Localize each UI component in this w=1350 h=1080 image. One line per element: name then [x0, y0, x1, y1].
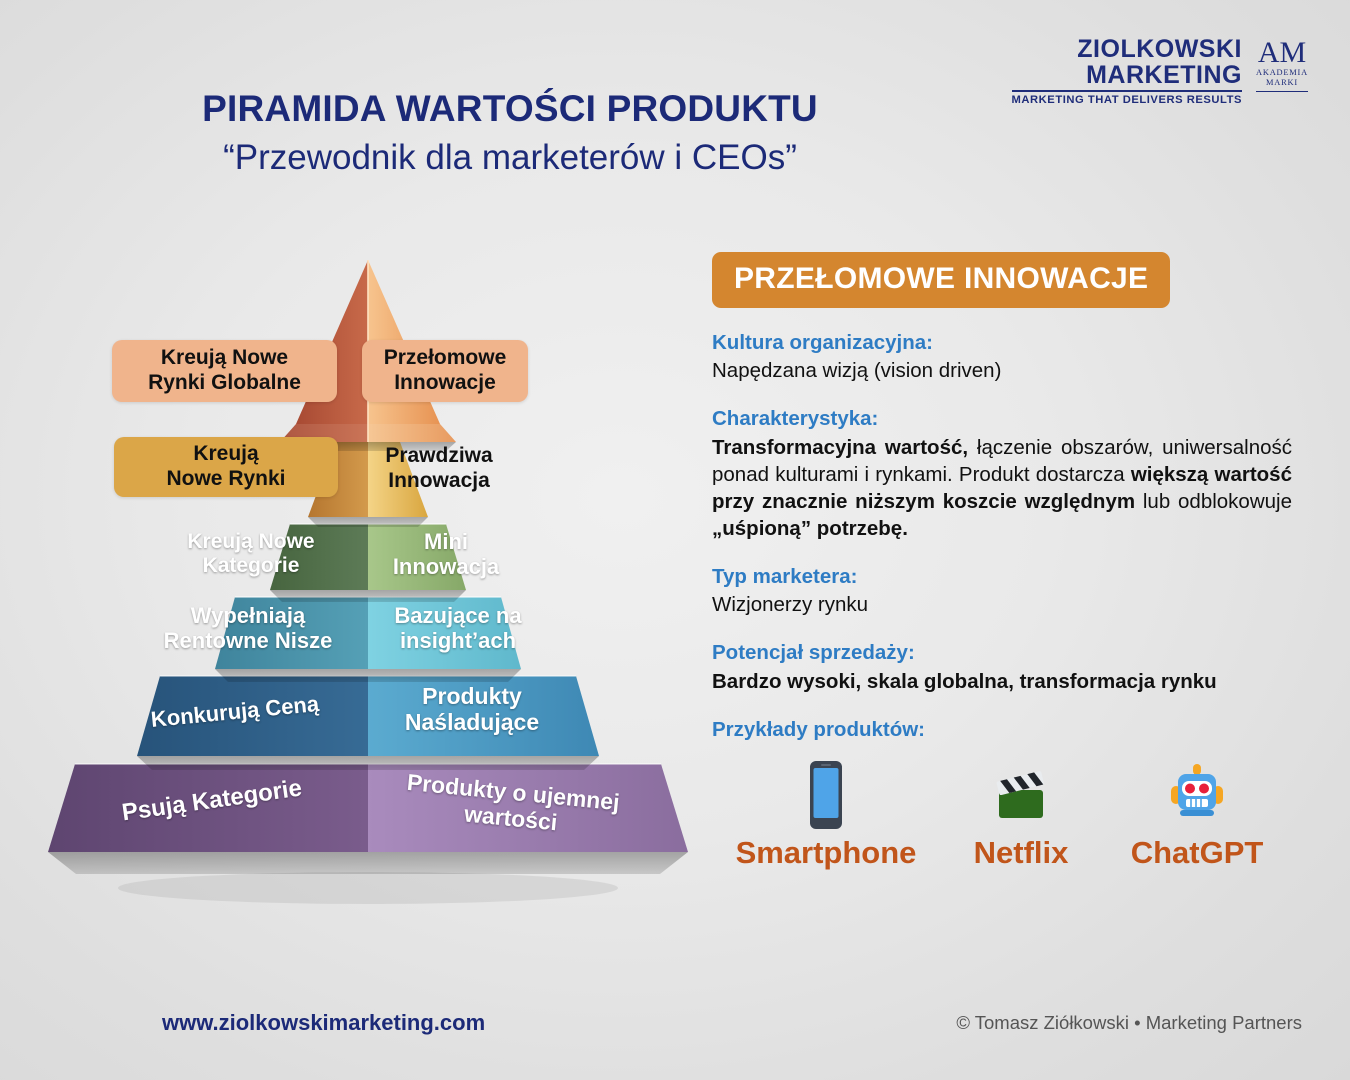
pyramid-level-5 [137, 676, 599, 770]
section-potencjal-body: Bardzo wysoki, skala globalna, transform… [712, 668, 1292, 695]
example-netflix-label: Netflix [940, 835, 1102, 871]
website-link[interactable]: www.ziolkowskimarketing.com [162, 1010, 485, 1036]
level-2-left-label: KreująNowe Rynki [114, 437, 338, 497]
level-1-left-text: Kreują NoweRynki Globalne [148, 346, 301, 396]
level-2-left-text: KreująNowe Rynki [166, 442, 285, 492]
logo-line-2: MARKETING [1012, 62, 1242, 88]
example-products-list: Smartphone Netflix [712, 759, 1292, 871]
section-przyklady-heading: Przykłady produktów: [712, 717, 1292, 743]
charakterystyka-run-0: Transformacyjna wartość, [712, 436, 968, 459]
example-smartphone-label: Smartphone [712, 835, 940, 871]
section-potencjal: Potencjał sprzedaży: Bardzo wysoki, skal… [712, 640, 1292, 695]
logo-line-1: ZIOLKOWSKI [1012, 36, 1242, 62]
logo-wordmark: ZIOLKOWSKI MARKETING MARKETING THAT DELI… [1012, 36, 1242, 106]
status-badge: PRZEŁOMOWE INNOWACJE [712, 252, 1170, 308]
copyright-notice: © Tomasz Ziółkowski • Marketing Partners [956, 1012, 1302, 1034]
akademia-marki-mark: AM AKADEMIA MARKI [1256, 36, 1308, 92]
page-subtitle: “Przewodnik dla marketerów i CEOs” [0, 138, 1020, 178]
logo-tagline: MARKETING THAT DELIVERS RESULTS [1012, 90, 1242, 106]
level-2-right-label: PrawdziwaInnowacja [360, 444, 518, 494]
smartphone-icon [712, 759, 940, 831]
section-typ: Typ marketera: Wizjonerzy rynku [712, 564, 1292, 618]
level-2-right-text: PrawdziwaInnowacja [385, 444, 492, 492]
value-pyramid: Kreują NoweRynki Globalne PrzełomoweInno… [48, 252, 688, 912]
section-kultura-heading: Kultura organizacyjna: [712, 330, 1292, 356]
am-monogram: AM [1256, 39, 1308, 68]
section-charakterystyka-body: Transformacyjna wartość, łączenie obszar… [712, 434, 1292, 542]
section-charakterystyka: Charakterystyka: Transformacyjna wartość… [712, 406, 1292, 542]
am-divider [1256, 91, 1308, 92]
pyramid-level-6-base [48, 764, 688, 874]
example-netflix[interactable]: Netflix [940, 759, 1102, 871]
level-1-left-label: Kreują NoweRynki Globalne [112, 340, 337, 402]
charakterystyka-run-5: „uśpioną” potrzebę. [712, 517, 908, 540]
section-kultura-body: Napędzana wizją (vision driven) [712, 358, 1292, 385]
section-charakterystyka-heading: Charakterystyka: [712, 406, 1292, 432]
example-chatgpt-label: ChatGPT [1102, 835, 1292, 871]
section-przyklady: Przykłady produktów: Smartphone [712, 717, 1292, 871]
pyramid-shadow [118, 872, 618, 904]
robot-icon [1102, 759, 1292, 831]
example-chatgpt[interactable]: ChatGPT [1102, 759, 1292, 871]
am-sub-2: MARKI [1256, 78, 1308, 89]
pyramid-level-3 [270, 524, 466, 602]
clapper-board-icon [940, 759, 1102, 831]
section-typ-heading: Typ marketera: [712, 564, 1292, 590]
detail-panel: PRZEŁOMOWE INNOWACJE Kultura organizacyj… [712, 252, 1292, 871]
section-typ-body: Wizjonerzy rynku [712, 592, 1292, 619]
am-sub-1: AKADEMIA [1256, 68, 1308, 79]
section-potencjal-heading: Potencjał sprzedaży: [712, 640, 1292, 666]
section-kultura: Kultura organizacyjna: Napędzana wizją (… [712, 330, 1292, 384]
brand-logo: ZIOLKOWSKI MARKETING MARKETING THAT DELI… [1012, 36, 1308, 106]
level-1-right-text: PrzełomoweInnowacje [384, 346, 507, 396]
pyramid-level-4 [215, 597, 521, 682]
page-title: PIRAMIDA WARTOŚCI PRODUKTU [0, 88, 1020, 130]
example-smartphone[interactable]: Smartphone [712, 759, 940, 871]
charakterystyka-run-4: odblokowuje [1170, 490, 1292, 513]
charakterystyka-run-3: lub [1135, 490, 1170, 513]
level-1-right-label: PrzełomoweInnowacje [362, 340, 528, 402]
